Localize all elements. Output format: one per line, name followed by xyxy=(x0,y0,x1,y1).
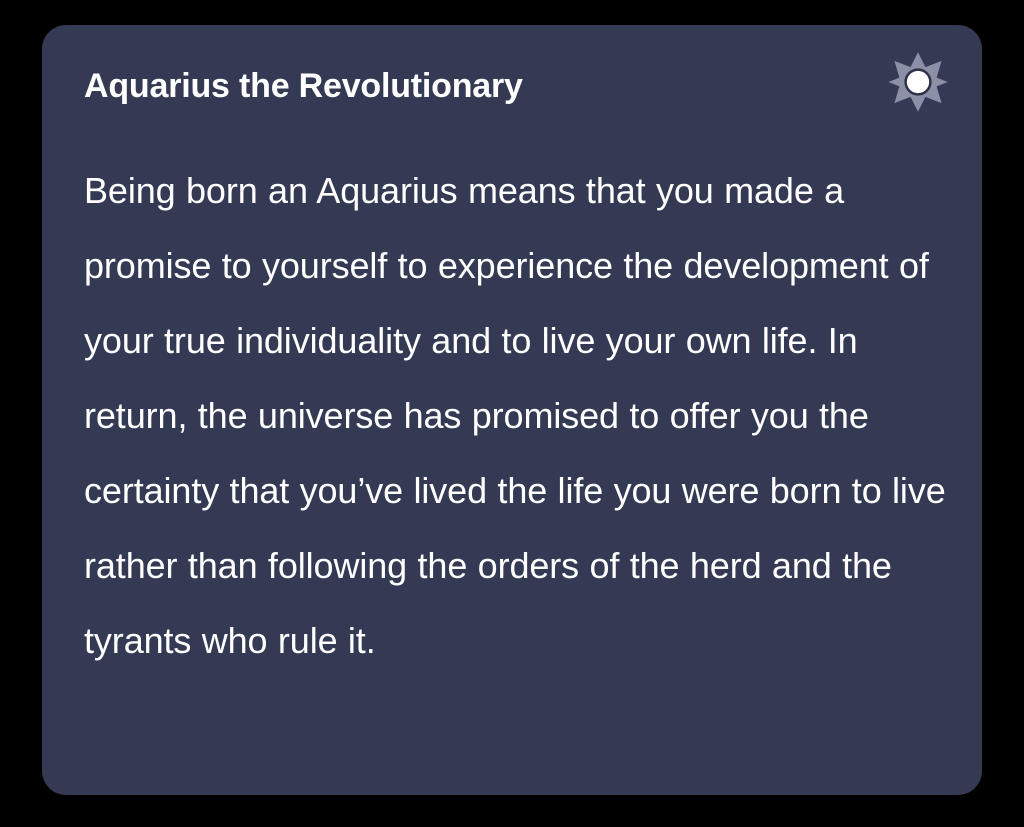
sun-star-icon-button[interactable] xyxy=(886,50,950,114)
screen-root: Aquarius the Revolutionary Being born an… xyxy=(0,0,1024,827)
horoscope-description: Being born an Aquarius means that you ma… xyxy=(84,153,946,678)
card-body: Being born an Aquarius means that you ma… xyxy=(84,153,946,678)
page-title: Aquarius the Revolutionary xyxy=(42,25,523,106)
sun-star-icon xyxy=(887,51,949,113)
horoscope-card: Aquarius the Revolutionary Being born an… xyxy=(42,25,982,795)
card-header: Aquarius the Revolutionary xyxy=(42,25,982,145)
